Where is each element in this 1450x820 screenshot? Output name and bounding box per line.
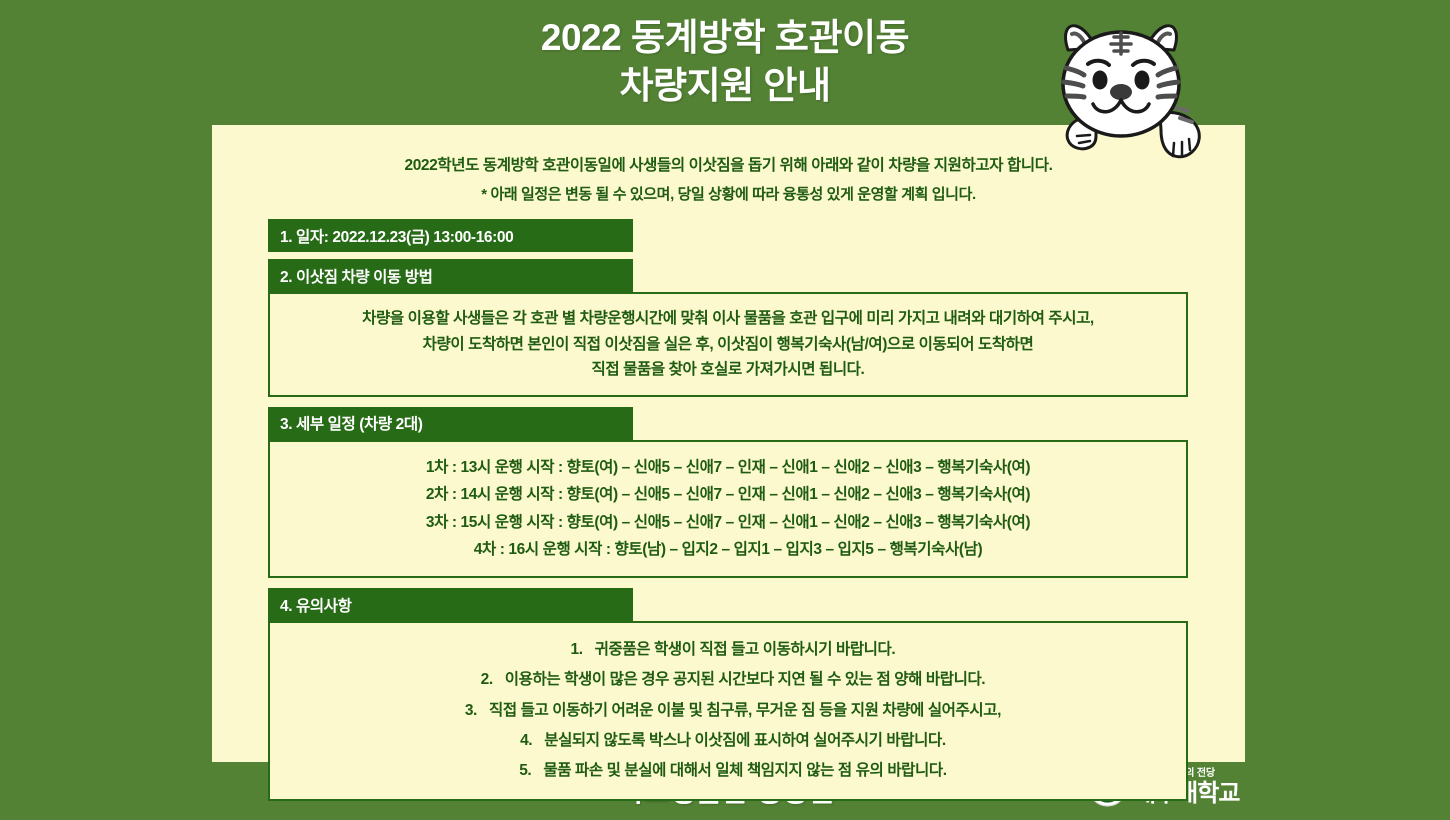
method-line-3: 직접 물품을 찾아 호실로 가져가시면 됩니다. [284,357,1172,382]
intro-text: 2022학년도 동계방학 호관이동일에 사생들의 이삿짐을 돕기 위해 아래와 … [212,152,1245,208]
notice-text: 이용하는 학생이 많은 경우 공지된 시간보다 지연 될 수 있는 점 양해 바… [505,665,985,695]
list-item: 5. 물품 파손 및 분실에 대해서 일체 책임지지 않는 점 유의 바랍니다. [284,756,1172,786]
method-line-2: 차량이 도착하면 본인이 직접 이삿짐을 실은 후, 이삿짐이 행복기숙사(남/… [284,332,1172,357]
notice-number: 4. [510,726,532,756]
schedule-row: 4차 : 16시 운행 시작 : 향토(남) – 입지2 – 입지1 – 입지3… [284,536,1172,564]
page-title-line-1: 2022 동계방학 호관이동 [0,14,1450,62]
intro-line-2: * 아래 일정은 변동 될 수 있으며, 당일 상황에 따라 융통성 있게 운영… [212,181,1245,209]
method-line-1: 차량을 이용할 사생들은 각 호관 별 차량운행시간에 맞춰 이사 물품을 호관… [284,306,1172,331]
notice-number: 1. [561,635,583,665]
list-item: 1. 귀중품은 학생이 직접 들고 이동하시기 바랍니다. [284,635,1172,665]
notice-number: 5. [509,756,531,786]
section-body-method: 차량을 이용할 사생들은 각 호관 별 차량운행시간에 맞춰 이사 물품을 호관… [268,292,1188,396]
schedule-row: 2차 : 14시 운행 시작 : 향토(여) – 신애5 – 신애7 – 인재 … [284,481,1172,509]
notice-text: 귀중품은 학생이 직접 들고 이동하시기 바랍니다. [595,635,896,665]
page-title-line-2: 차량지원 안내 [0,62,1450,110]
notice-number: 2. [471,665,493,695]
schedule-row: 1차 : 13시 운행 시작 : 향토(여) – 신애5 – 신애7 – 인재 … [284,454,1172,482]
notice-number: 3. [455,696,477,726]
notice-text: 물품 파손 및 분실에 대해서 일체 책임지지 않는 점 유의 바랍니다. [543,756,946,786]
intro-line-1: 2022학년도 동계방학 호관이동일에 사생들의 이삿짐을 돕기 위해 아래와 … [212,152,1245,181]
list-item: 2. 이용하는 학생이 많은 경우 공지된 시간보다 지연 될 수 있는 점 양… [284,665,1172,695]
section-header-date: 1. 일자: 2022.12.23(금) 13:00-16:00 [268,219,633,252]
notice-panel: 2022학년도 동계방학 호관이동일에 사생들의 이삿짐을 돕기 위해 아래와 … [212,125,1245,762]
notice-text: 분실되지 않도록 박스나 이삿짐에 표시하여 실어주시기 바랍니다. [544,726,946,756]
section-body-notice: 1. 귀중품은 학생이 직접 들고 이동하시기 바랍니다. 2. 이용하는 학생… [268,621,1188,801]
notice-text: 직접 들고 이동하기 어려운 이불 및 침구류, 무거운 짐 등을 지원 차량에… [489,696,1001,726]
list-item: 4. 분실되지 않도록 박스나 이삿짐에 표시하여 실어주시기 바랍니다. [284,726,1172,756]
section-body-schedule: 1차 : 13시 운행 시작 : 향토(여) – 신애5 – 신애7 – 인재 … [268,440,1188,578]
list-item: 3. 직접 들고 이동하기 어려운 이불 및 침구류, 무거운 짐 등을 지원 … [284,696,1172,726]
section-header-notice: 4. 유의사항 [268,588,633,621]
section-header-method: 2. 이삿짐 차량 이동 방법 [268,259,633,292]
section-header-schedule: 3. 세부 일정 (차량 2대) [268,407,633,440]
schedule-row: 3차 : 15시 운행 시작 : 향토(여) – 신애5 – 신애7 – 인재 … [284,509,1172,537]
page-title: 2022 동계방학 호관이동 차량지원 안내 [0,14,1450,110]
